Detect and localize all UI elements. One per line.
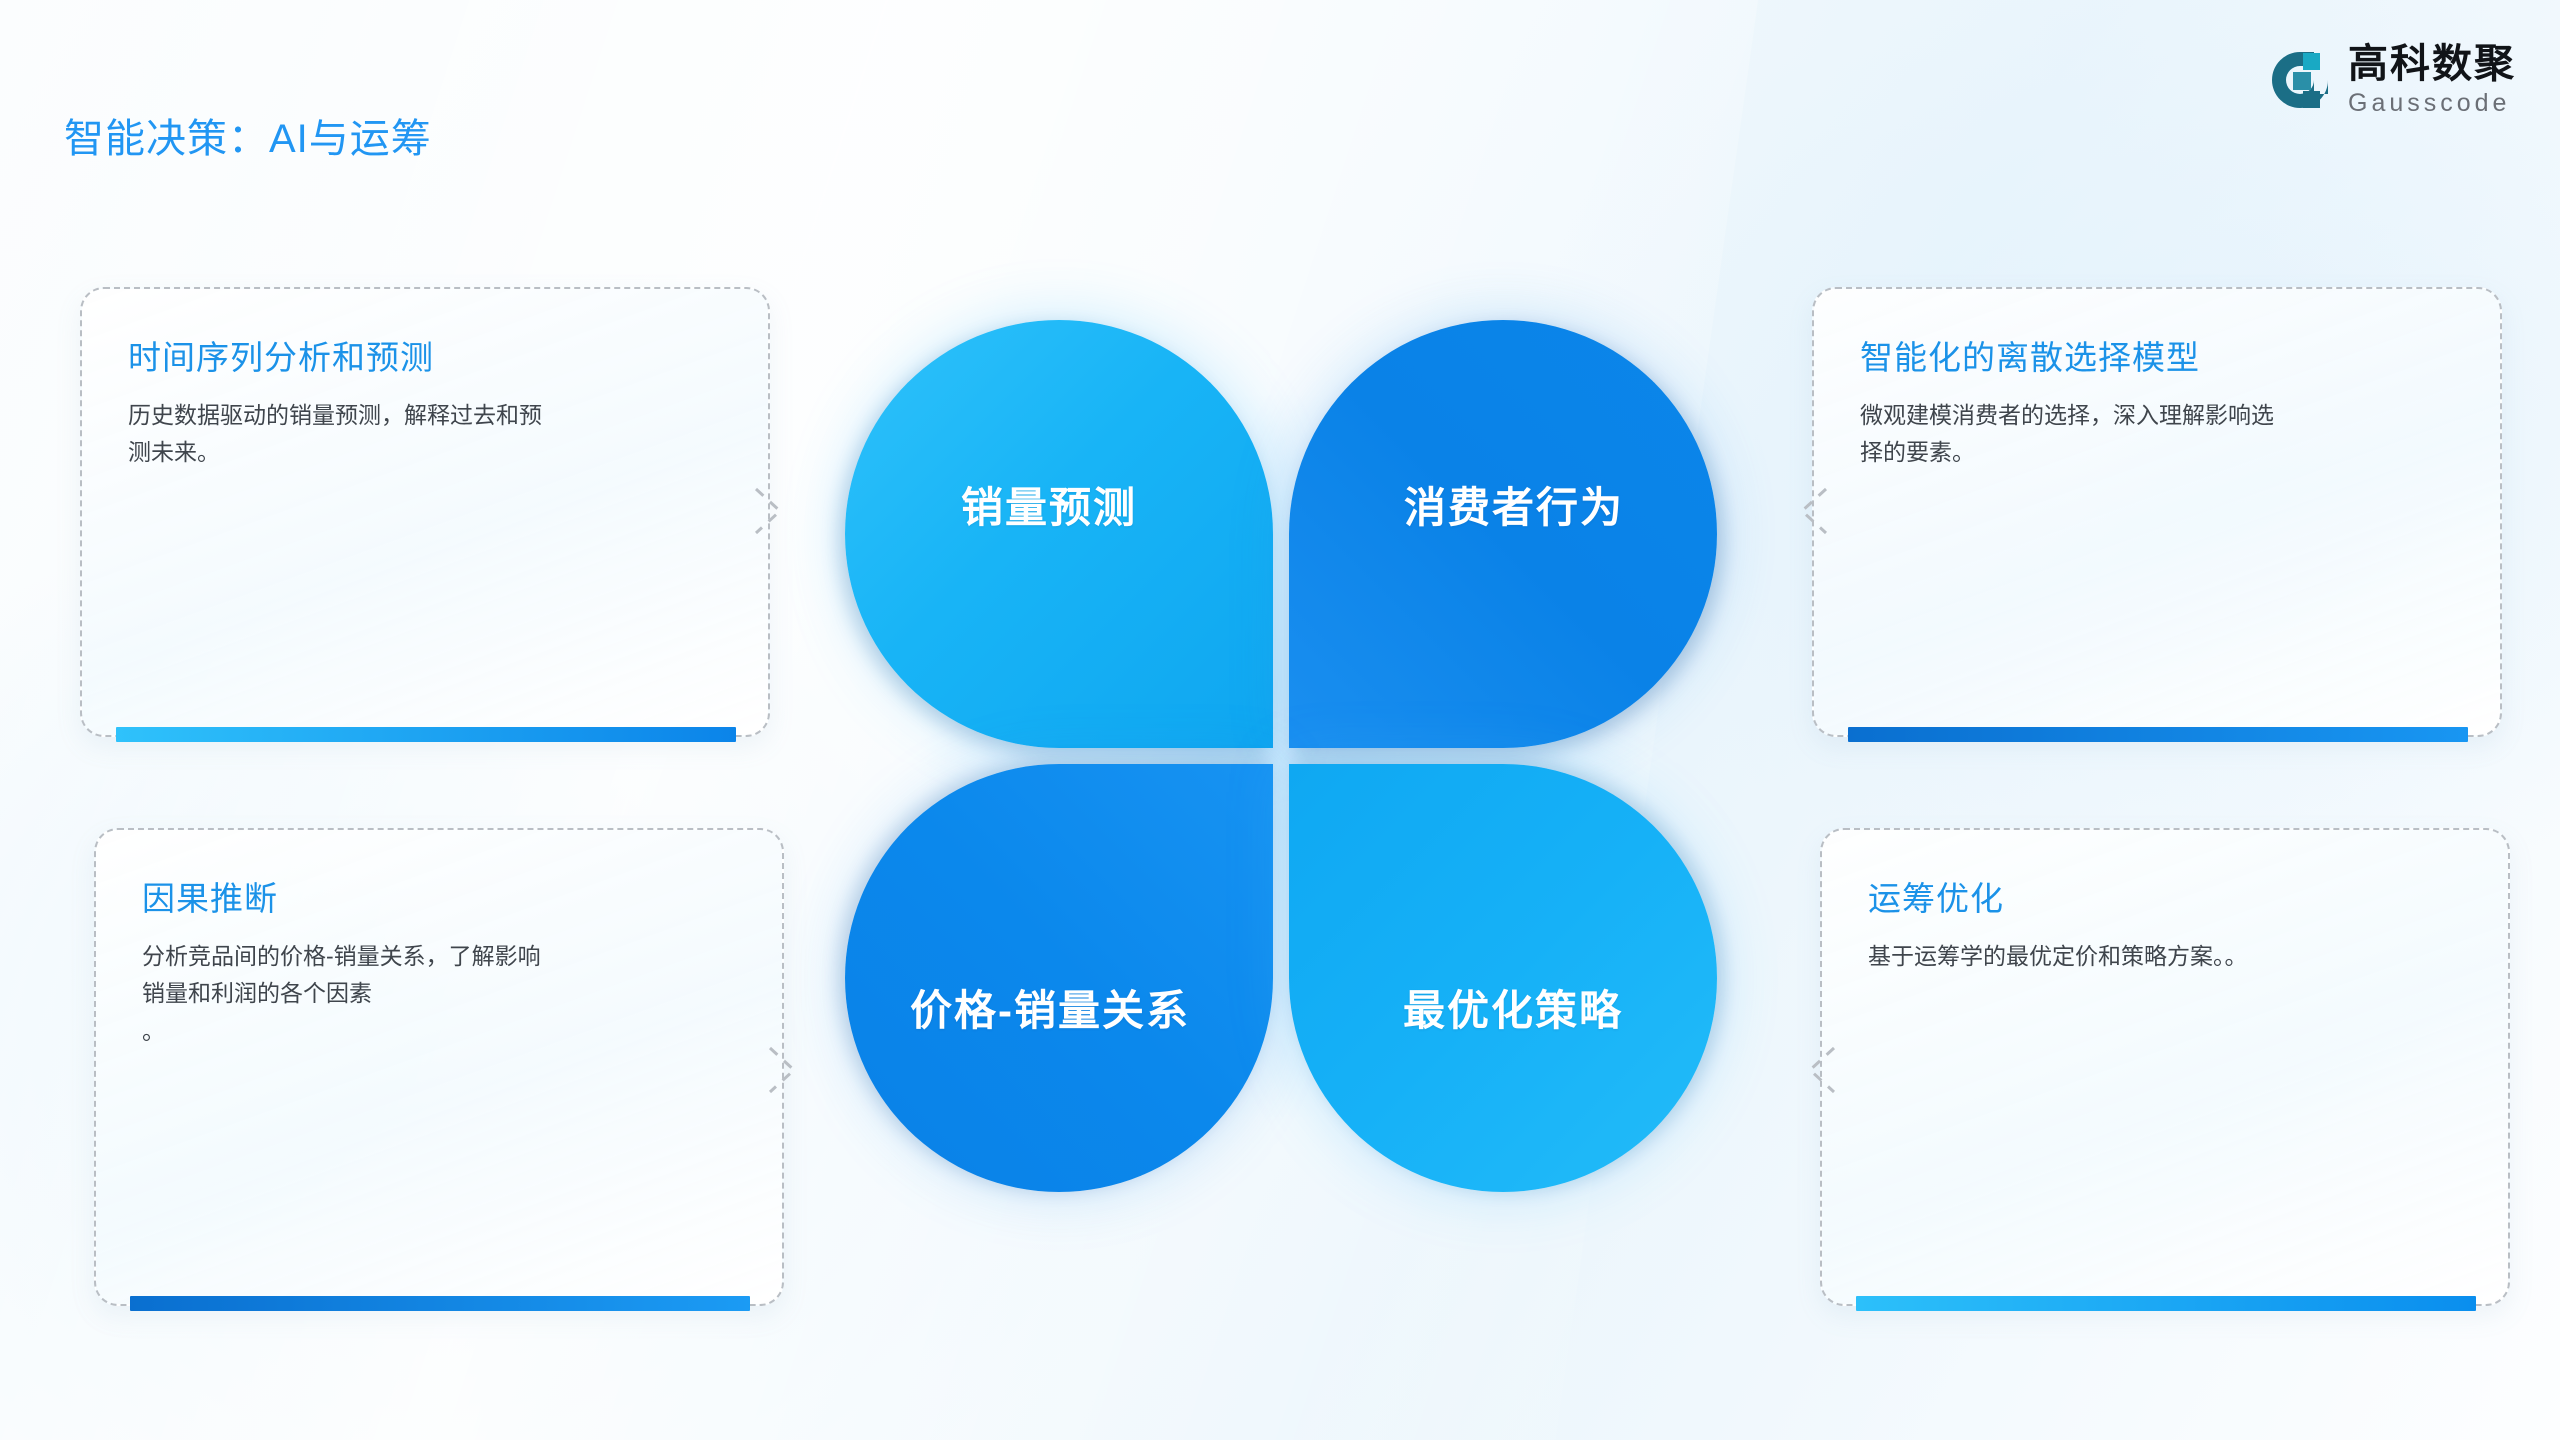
logo-english-name: Gausscode <box>2348 91 2516 116</box>
card-accent-bar <box>130 1296 750 1311</box>
card-accent-bar <box>1856 1296 2476 1311</box>
card-title: 智能化的离散选择模型 <box>1860 331 2454 379</box>
card-content: 时间序列分析和预测 历史数据驱动的销量预测，解释过去和预 测未来。 <box>82 289 768 735</box>
brand-logo: 高科数聚 Gausscode <box>2270 44 2516 116</box>
petal-consumer-behavior[interactable]: 消费者行为 <box>1289 320 1717 748</box>
petal-label: 价格-销量关系 <box>910 977 1190 1038</box>
card-accent-bar <box>116 727 736 742</box>
petal-label: 最优化策略 <box>1403 977 1623 1038</box>
card-body: 历史数据驱动的销量预测，解释过去和预 测未来。 <box>128 397 722 472</box>
card-body: 微观建模消费者的选择，深入理解影响选 择的要素。 <box>1860 397 2454 472</box>
card-content: 运筹优化 基于运筹学的最优定价和策略方案。。 <box>1822 830 2508 1304</box>
card-title: 运筹优化 <box>1868 872 2462 920</box>
gausscode-logo-icon <box>2270 50 2330 110</box>
card-body: 基于运筹学的最优定价和策略方案。。 <box>1868 938 2462 975</box>
petal-label: 消费者行为 <box>1404 474 1624 535</box>
card-content: 因果推断 分析竞品间的价格-销量关系，了解影响 销量和利润的各个因素 。 <box>96 830 782 1304</box>
card-operations-optimization[interactable]: 运筹优化 基于运筹学的最优定价和策略方案。。 <box>1820 828 2510 1306</box>
petal-sales-forecast[interactable]: 销量预测 <box>845 320 1273 748</box>
logo-chinese-name: 高科数聚 <box>2348 44 2516 84</box>
petal-optimal-strategy[interactable]: 最优化策略 <box>1289 764 1717 1192</box>
card-discrete-choice[interactable]: 智能化的离散选择模型 微观建模消费者的选择，深入理解影响选 择的要素。 <box>1812 287 2502 737</box>
logo-wordmark: 高科数聚 Gausscode <box>2348 44 2516 116</box>
page-title: 智能决策：AI与运筹 <box>64 106 432 164</box>
card-title: 因果推断 <box>142 872 736 920</box>
card-title: 时间序列分析和预测 <box>128 331 722 379</box>
petal-price-sales-relation[interactable]: 价格-销量关系 <box>845 764 1273 1192</box>
slide-canvas: 智能决策：AI与运筹 高科数聚 Gausscode 销量预测 消费者行为 价格-… <box>0 0 2560 1440</box>
quadrant-flower-diagram: 销量预测 消费者行为 价格-销量关系 最优化策略 <box>845 320 1717 1192</box>
card-content: 智能化的离散选择模型 微观建模消费者的选择，深入理解影响选 择的要素。 <box>1814 289 2500 735</box>
card-accent-bar <box>1848 727 2468 742</box>
card-causal-inference[interactable]: 因果推断 分析竞品间的价格-销量关系，了解影响 销量和利润的各个因素 。 <box>94 828 784 1306</box>
petal-label: 销量预测 <box>961 474 1137 535</box>
card-time-series[interactable]: 时间序列分析和预测 历史数据驱动的销量预测，解释过去和预 测未来。 <box>80 287 770 737</box>
card-body: 分析竞品间的价格-销量关系，了解影响 销量和利润的各个因素 。 <box>142 938 736 1050</box>
